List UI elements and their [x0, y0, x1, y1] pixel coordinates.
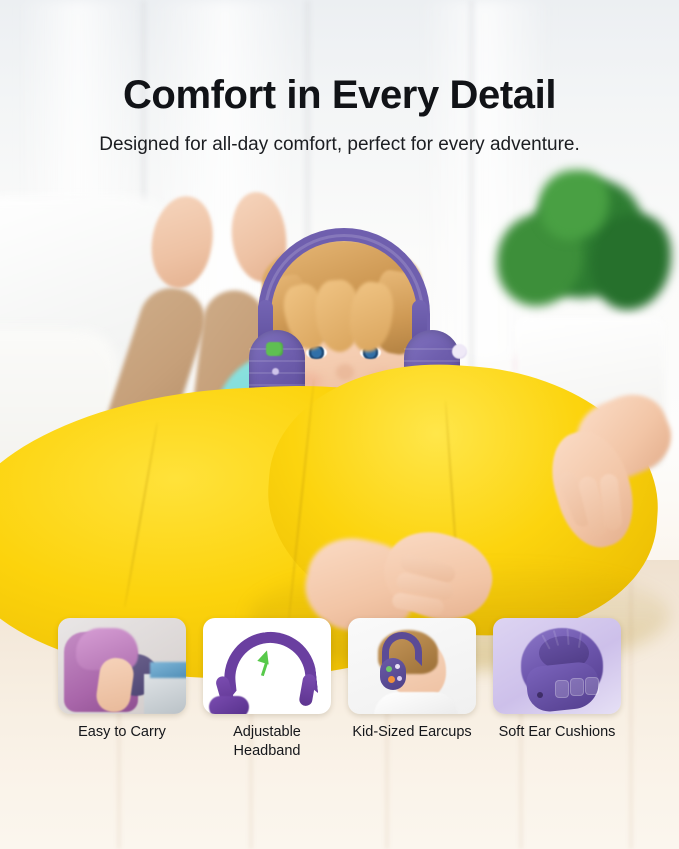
- rocket-sticker-icon: [452, 344, 467, 359]
- feature-label: Easy to Carry: [58, 723, 186, 742]
- dinosaur-sticker-icon: [266, 342, 283, 356]
- feature-label: Kid-Sized Earcups: [348, 723, 476, 742]
- dot-sticker-icon: [272, 368, 279, 375]
- page-title: Comfort in Every Detail: [0, 72, 679, 118]
- feature-item-kid-sized-earcups[interactable]: Kid-Sized Earcups: [348, 618, 476, 761]
- feature-item-adjustable-headband[interactable]: Adjustable Headband: [203, 618, 331, 761]
- adjustable-headband-thumbnail[interactable]: [203, 618, 331, 714]
- feature-label: Soft Ear Cushions: [493, 723, 621, 742]
- product-feature-banner: Comfort in Every Detail Designed for all…: [0, 0, 679, 849]
- backpack-with-headphones-thumbnail[interactable]: [58, 618, 186, 714]
- control-button-icon: [585, 677, 599, 695]
- feature-item-soft-ear-cushions[interactable]: Soft Ear Cushions: [493, 618, 621, 761]
- feature-label: Adjustable Headband: [203, 723, 331, 761]
- feature-item-easy-to-carry[interactable]: Easy to Carry: [58, 618, 186, 761]
- control-button-icon: [570, 678, 584, 696]
- ear-cushion-closeup-thumbnail[interactable]: [493, 618, 621, 714]
- page-subtitle: Designed for all-day comfort, perfect fo…: [0, 132, 679, 158]
- control-button-icon: [555, 680, 569, 698]
- feature-list: Easy to Carry Adjustable Headband: [58, 618, 621, 761]
- child-profile-wearing-headphones-thumbnail[interactable]: [348, 618, 476, 714]
- bare-foot: [143, 191, 221, 293]
- port-icon: [537, 692, 543, 698]
